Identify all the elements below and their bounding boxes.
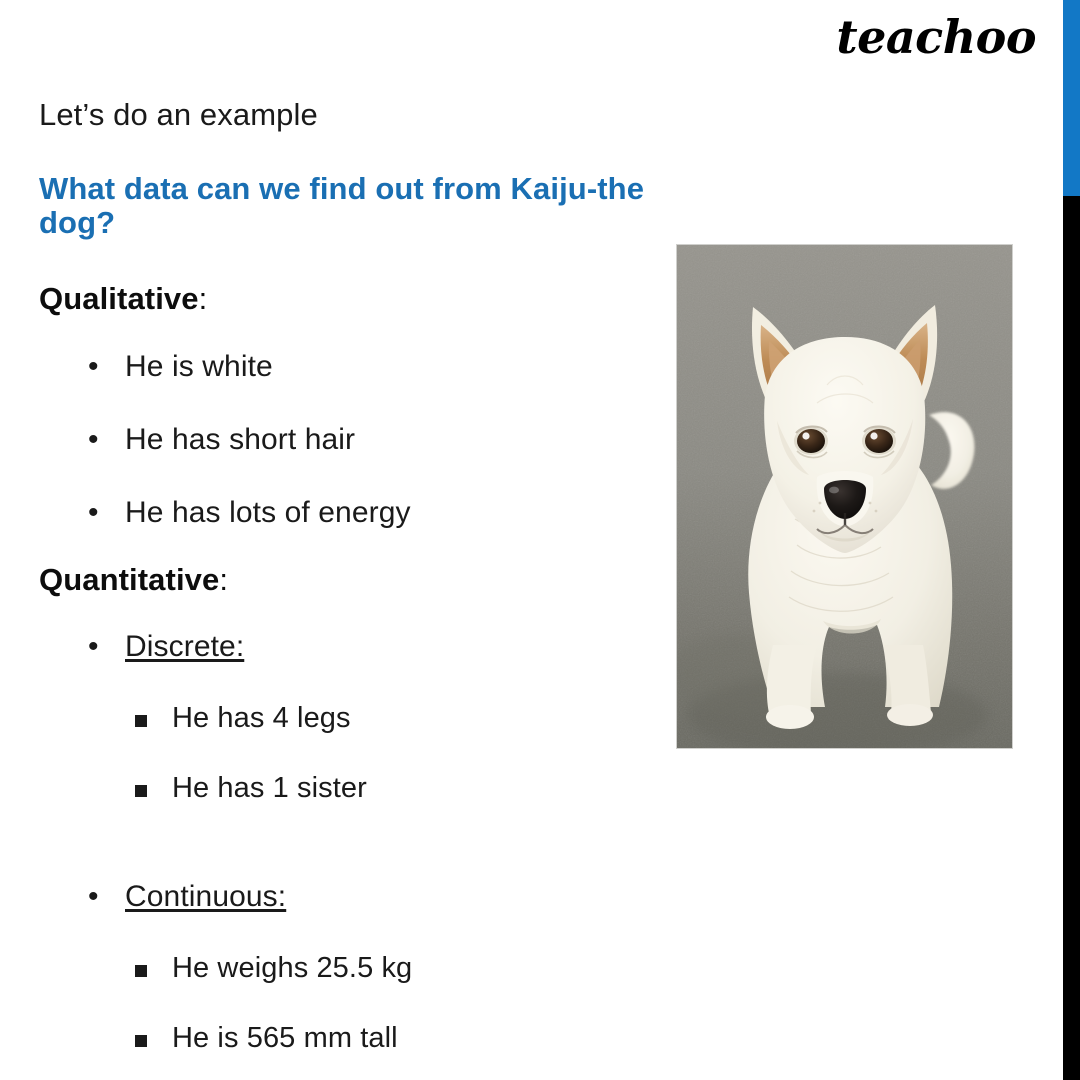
slide-canvas: teachoo Let’s do an example What data ca… — [0, 0, 1080, 1080]
bullet-square-icon — [135, 965, 147, 977]
dog-photo — [677, 245, 1012, 748]
section-quantitative: Quantitative: • Discrete: He has 4 legs … — [39, 563, 659, 1055]
bullet-dot-icon: • — [88, 423, 99, 456]
bullet-square-icon — [135, 1035, 147, 1047]
list-item: • He has lots of energy — [39, 496, 659, 529]
section-heading-colon: : — [219, 562, 228, 597]
list-item: • He has short hair — [39, 423, 659, 456]
group-discrete: • Discrete: He has 4 legs He has 1 siste… — [39, 630, 659, 805]
list-item: • He is white — [39, 350, 659, 383]
teachoo-logo: teachoo — [836, 14, 1036, 60]
list-item-label: He has 4 legs — [172, 702, 351, 734]
list-item-label: He has lots of energy — [125, 496, 411, 529]
list-item: He weighs 25.5 kg — [39, 953, 659, 985]
edge-bar-blue — [1063, 0, 1080, 196]
section-heading-colon: : — [199, 281, 208, 316]
group-label-row: • Discrete: — [39, 630, 659, 663]
bullet-square-icon — [135, 785, 147, 797]
list-item-label: He has short hair — [125, 423, 355, 456]
section-qualitative: Qualitative: • He is white • He has shor… — [39, 282, 659, 528]
dog-photo-illustration — [677, 245, 1012, 748]
group-spacer — [39, 843, 659, 880]
lead-line: Let’s do an example — [39, 98, 659, 131]
list-item-label: He has 1 sister — [172, 772, 367, 804]
edge-bar-black — [1063, 196, 1080, 1080]
bullet-dot-icon: • — [88, 630, 99, 663]
list-item: He has 4 legs — [39, 703, 659, 735]
group-label: Continuous: — [125, 880, 286, 913]
qualitative-bullet-list: • He is white • He has short hair • He h… — [39, 350, 659, 529]
question-heading: What data can we find out from Kaiju-the… — [39, 172, 659, 239]
list-item-label: He is 565 mm tall — [172, 1022, 398, 1054]
section-heading-word: Quantitative — [39, 562, 219, 597]
group-continuous: • Continuous: He weighs 25.5 kg He is 56… — [39, 880, 659, 1055]
list-item-label: He weighs 25.5 kg — [172, 952, 412, 984]
edge-bar-group — [1063, 0, 1080, 1080]
list-item-label: He is white — [125, 350, 273, 383]
bullet-square-icon — [135, 715, 147, 727]
group-label-row: • Continuous: — [39, 880, 659, 913]
list-item: He has 1 sister — [39, 773, 659, 805]
section-heading-quantitative: Quantitative: — [39, 563, 659, 596]
section-spacer — [39, 529, 659, 563]
section-heading-qualitative: Qualitative: — [39, 282, 659, 315]
section-heading-word: Qualitative — [39, 281, 199, 316]
list-item: He is 565 mm tall — [39, 1023, 659, 1055]
bullet-dot-icon: • — [88, 496, 99, 529]
group-label: Discrete: — [125, 630, 244, 663]
bullet-dot-icon: • — [88, 350, 99, 383]
slide-text-column: Let’s do an example What data can we fin… — [39, 98, 659, 1080]
bullet-dot-icon: • — [88, 880, 99, 913]
